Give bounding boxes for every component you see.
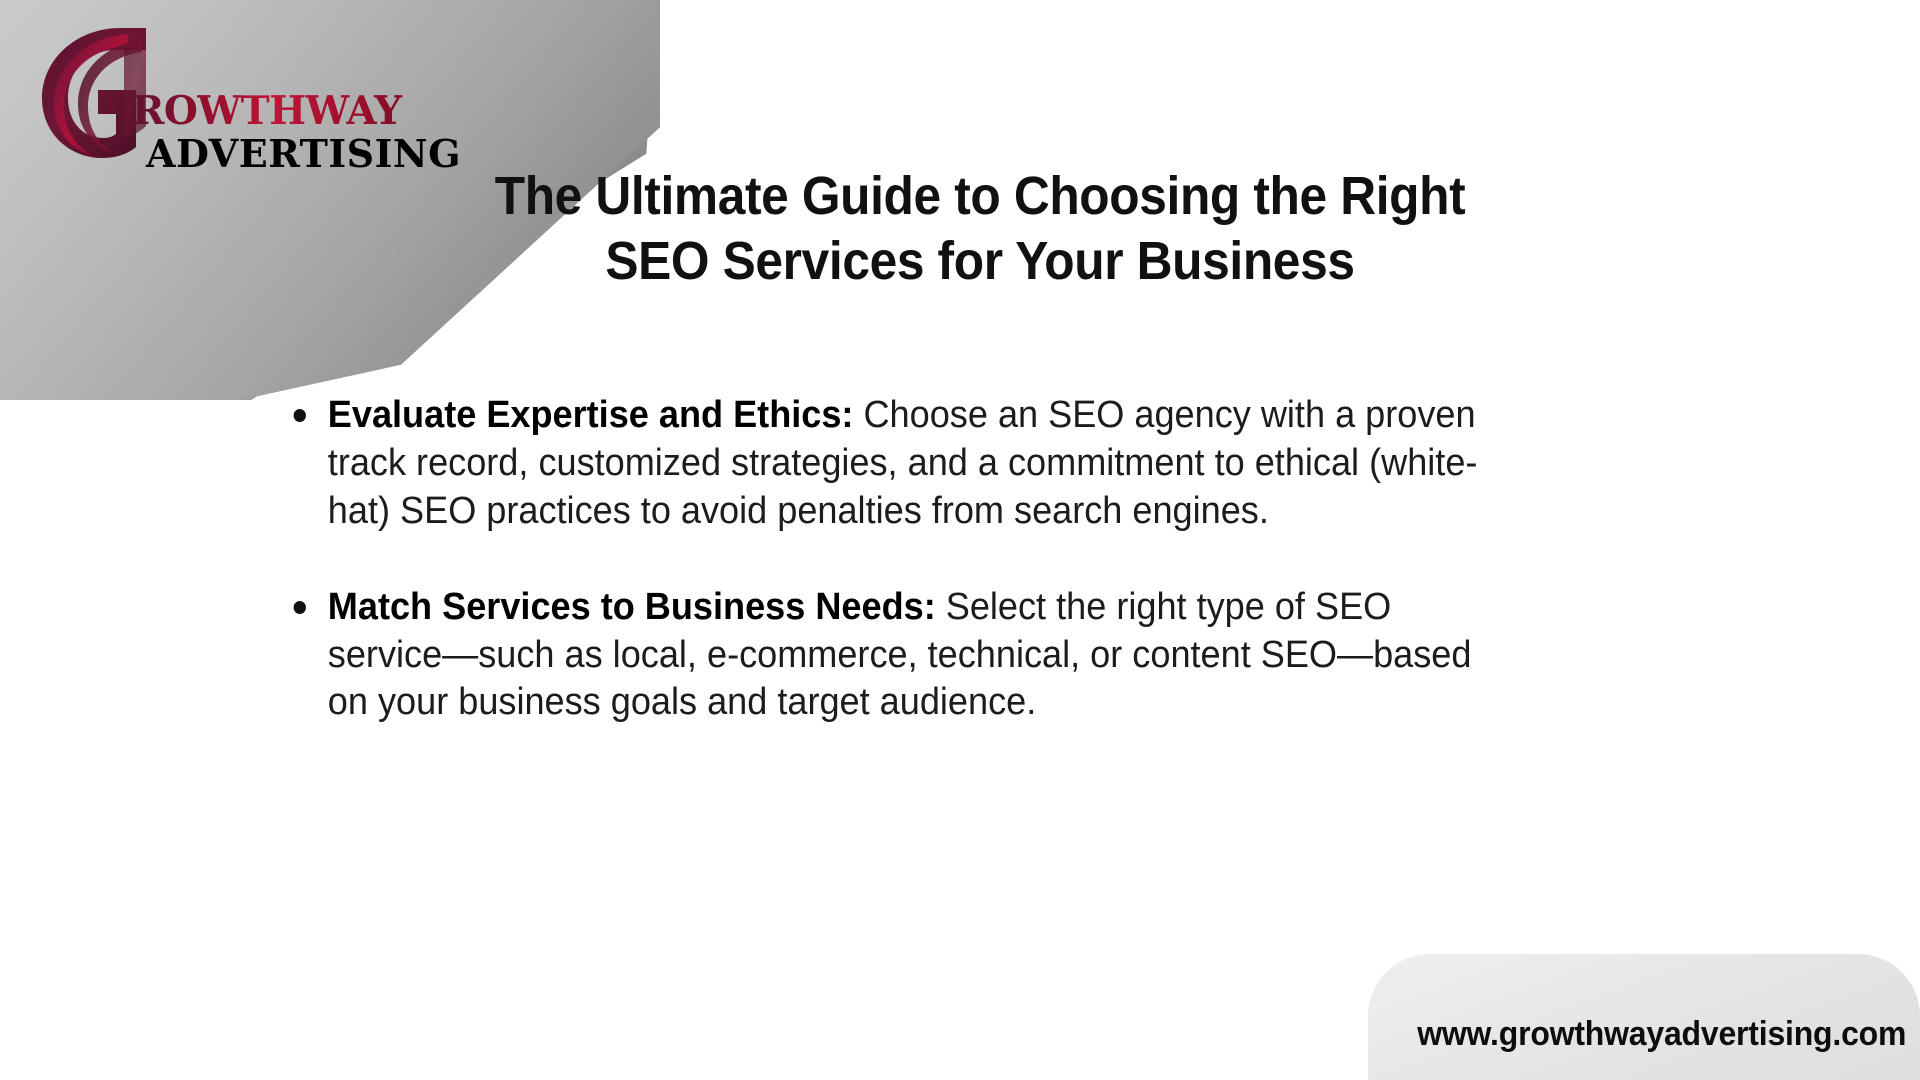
slide-title-line-1: The Ultimate Guide to Choosing the Right [446, 164, 1513, 229]
logo-name-secondary: ADVERTISING [146, 135, 432, 173]
slide-title-line-2: SEO Services for Your Business [446, 229, 1513, 294]
bullet-lead-label: Match Services to Business Needs: [328, 586, 936, 628]
logo-wordmark: ROWTHWAY ADVERTISING [132, 92, 432, 173]
list-item: Match Services to Business Needs: Select… [286, 584, 1483, 728]
list-item: Evaluate Expertise and Ethics: Choose an… [286, 392, 1483, 536]
bullet-lead-label: Evaluate Expertise and Ethics: [328, 394, 854, 436]
website-url[interactable]: www.growthwayadvertising.com [1417, 1015, 1906, 1054]
slide-title: The Ultimate Guide to Choosing the Right… [446, 164, 1513, 294]
logo-name-primary: ROWTHWAY [132, 92, 432, 131]
bullet-list: Evaluate Expertise and Ethics: Choose an… [286, 392, 1546, 727]
brand-logo: ROWTHWAY ADVERTISING [24, 18, 424, 178]
bullet-dot-icon [294, 409, 306, 422]
bullet-dot-icon [294, 601, 306, 614]
